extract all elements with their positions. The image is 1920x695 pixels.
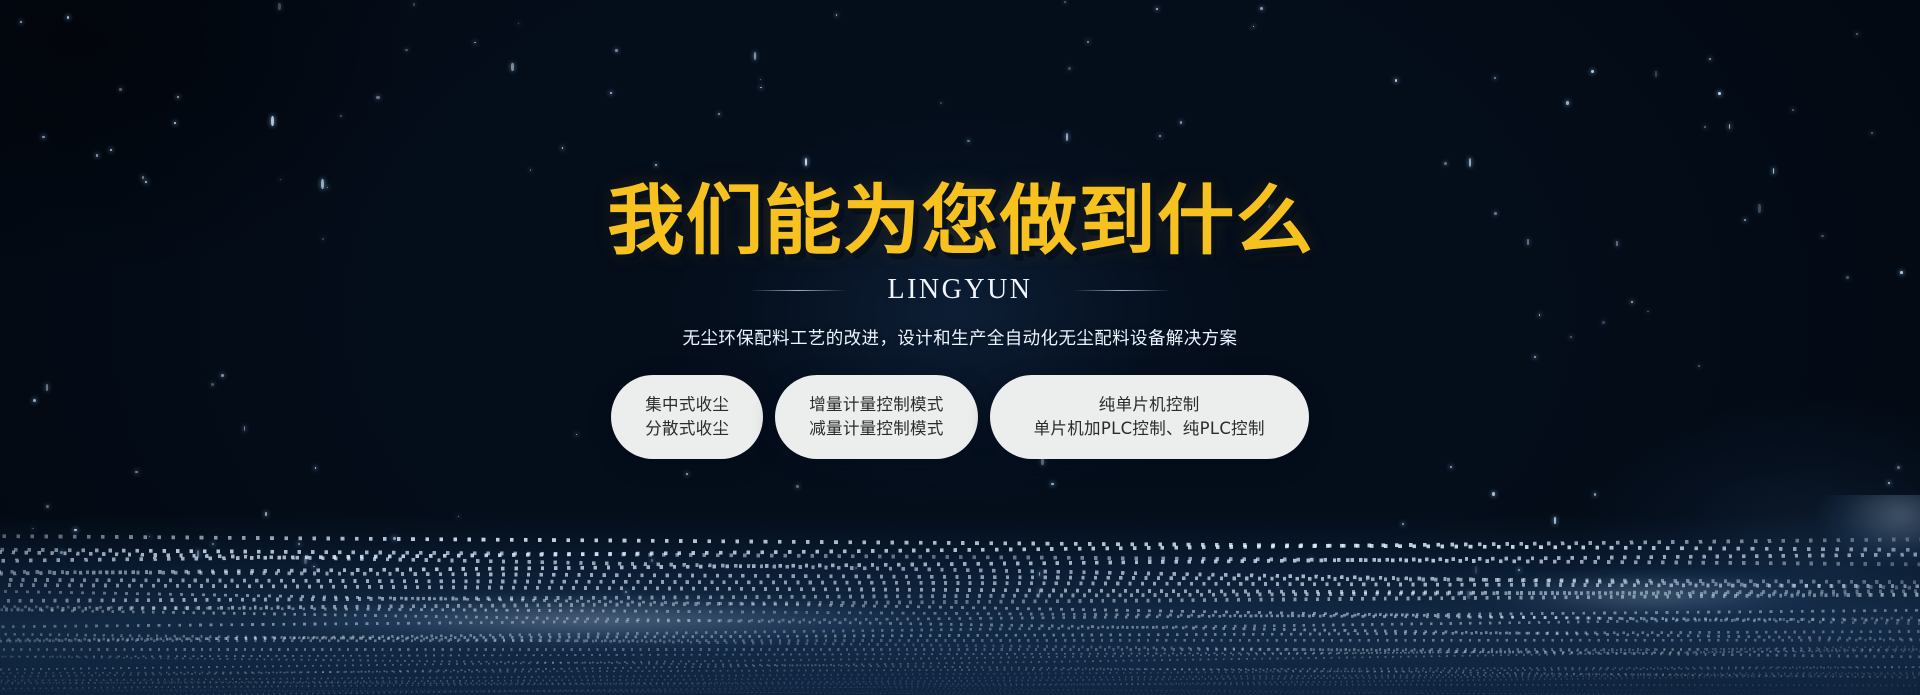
feature-card-dust-collection[interactable]: 集中式收尘 分散式收尘 — [611, 375, 763, 459]
card-line-2: 减量计量控制模式 — [809, 420, 943, 438]
hero-banner: 我们能为您做到什么 LINGYUN 无尘环保配料工艺的改进，设计和生产全自动化无… — [0, 0, 1920, 695]
feature-card-metering-mode[interactable]: 增量计量控制模式 减量计量控制模式 — [775, 375, 977, 459]
page-subtitle: 无尘环保配料工艺的改进，设计和生产全自动化无尘配料设备解决方案 — [683, 325, 1238, 350]
card-line-1: 纯单片机控制 — [1099, 396, 1200, 414]
card-line-1: 增量计量控制模式 — [809, 396, 943, 414]
page-title: 我们能为您做到什么 — [607, 183, 1314, 259]
brand-eyebrow-row: LINGYUN — [749, 276, 1170, 304]
hero-content: 我们能为您做到什么 LINGYUN 无尘环保配料工艺的改进，设计和生产全自动化无… — [0, 0, 1920, 695]
divider-line-right — [1073, 290, 1171, 291]
feature-card-control-system[interactable]: 纯单片机控制 单片机加PLC控制、纯PLC控制 — [990, 375, 1309, 459]
feature-card-list: 集中式收尘 分散式收尘 增量计量控制模式 减量计量控制模式 纯单片机控制 单片机… — [611, 375, 1309, 459]
card-line-2: 单片机加PLC控制、纯PLC控制 — [1034, 420, 1265, 438]
divider-line-left — [749, 290, 847, 291]
brand-name: LINGYUN — [887, 276, 1032, 304]
card-line-2: 分散式收尘 — [645, 420, 729, 438]
card-line-1: 集中式收尘 — [645, 396, 729, 414]
